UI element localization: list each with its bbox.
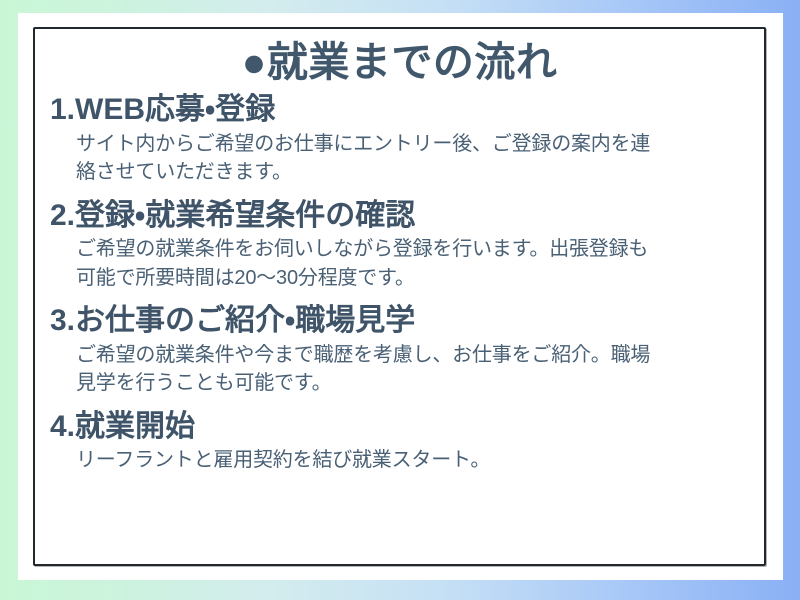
step-body-line: サイト内からご希望のお仕事にエントリー後、ご登録の案内を連 (76, 130, 752, 158)
step-body-3: ご希望の就業条件や今まで職歴を考慮し、お仕事をご紹介。職場 見学を行うことも可能… (50, 341, 752, 398)
slide-root: { "theme": { "background_gradient_start"… (0, 0, 800, 600)
step-item-4: 4.就業開始 リーフラントと雇用契約を結び就業スタート。 (50, 409, 752, 475)
step-heading-1: 1.WEB応募・登録 (50, 92, 752, 129)
step-body-4: リーフラントと雇用契約を結び就業スタート。 (50, 446, 752, 474)
step-item-3: 3.お仕事のご紹介・職場見学 ご希望の就業条件や今まで職歴を考慮し、お仕事をご紹… (50, 303, 752, 397)
step-heading-4: 4.就業開始 (50, 409, 752, 446)
step-body-line: 絡させていただきます。 (76, 158, 752, 186)
step-item-1: 1.WEB応募・登録 サイト内からご希望のお仕事にエントリー後、ご登録の案内を連… (50, 92, 752, 186)
slide-content: ●就業までの流れ 1.WEB応募・登録 サイト内からご希望のお仕事にエントリー後… (33, 27, 766, 566)
step-body-line: リーフラントと雇用契約を結び就業スタート。 (76, 446, 752, 474)
step-body-1: サイト内からご希望のお仕事にエントリー後、ご登録の案内を連 絡させていただきます… (50, 130, 752, 187)
step-body-line: ご希望の就業条件や今まで職歴を考慮し、お仕事をご紹介。職場 (76, 341, 752, 369)
step-body-line: 見学を行うことも可能です。 (76, 369, 752, 397)
step-body-2: ご希望の就業条件をお伺いしながら登録を行います。出張登録も 可能で所要時間は20… (50, 235, 752, 292)
step-item-2: 2.登録・就業希望条件の確認 ご希望の就業条件をお伺いしながら登録を行います。出… (50, 198, 752, 292)
step-heading-3: 3.お仕事のご紹介・職場見学 (50, 303, 752, 340)
steps-list: 1.WEB応募・登録 サイト内からご希望のお仕事にエントリー後、ご登録の案内を連… (47, 92, 752, 474)
step-heading-2: 2.登録・就業希望条件の確認 (50, 198, 752, 235)
page-title: ●就業までの流れ (47, 38, 752, 86)
step-body-line: ご希望の就業条件をお伺いしながら登録を行います。出張登録も (76, 235, 752, 263)
step-body-line: 可能で所要時間は20〜30分程度です。 (76, 264, 752, 292)
